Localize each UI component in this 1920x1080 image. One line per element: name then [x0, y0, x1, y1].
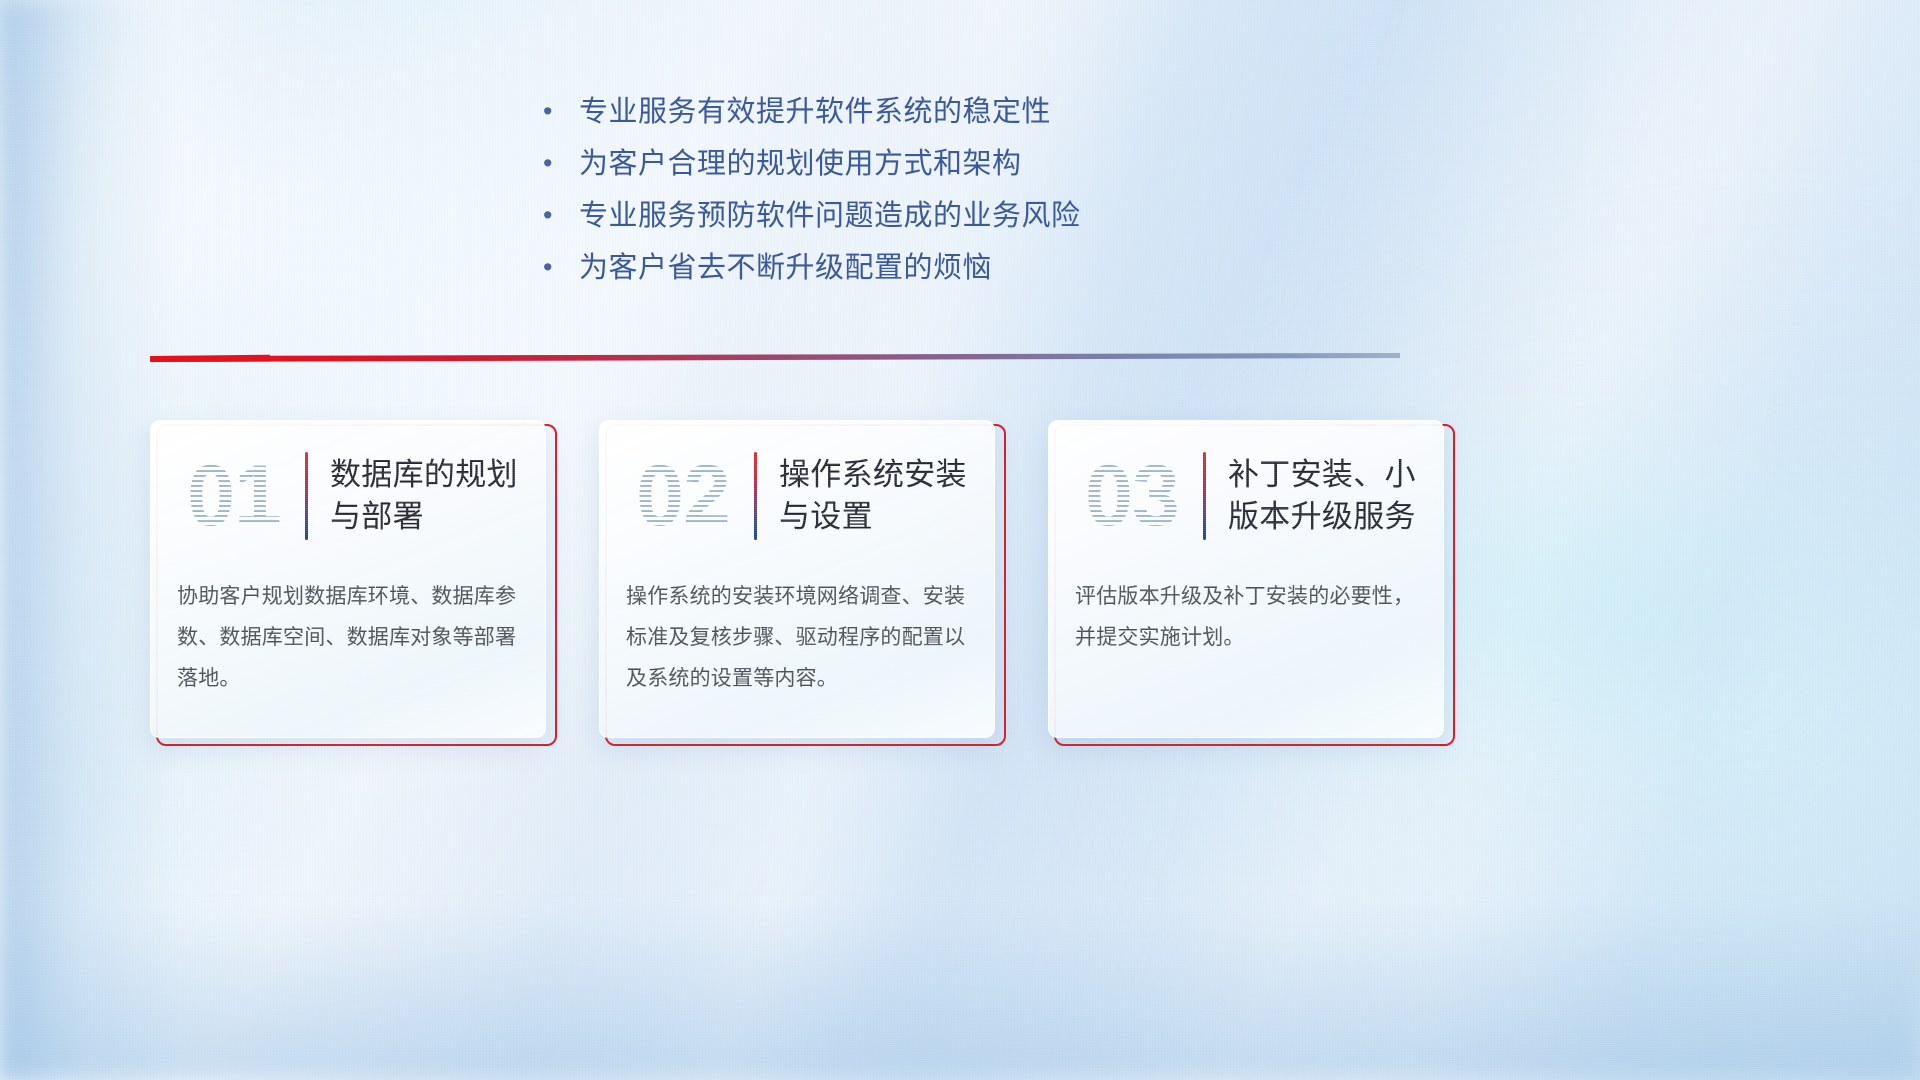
card-number: 03	[1071, 450, 1193, 542]
card-header: 03 补丁安装、小版本升级服务	[1049, 421, 1443, 571]
bullet-marker-icon: •	[543, 145, 579, 181]
card-surface: 01 数据库的规划与部署 协助客户规划数据库环境、数据库参数、数据库空间、数据库…	[150, 420, 546, 738]
card-title: 数据库的规划与部署	[330, 454, 529, 537]
bullet-text: 为客户合理的规划使用方式和架构	[579, 145, 1022, 184]
card-header: 02 操作系统安装与设置	[600, 421, 994, 571]
card-surface: 03 补丁安装、小版本升级服务 评估版本升级及补丁安装的必要性，并提交实施计划。	[1048, 420, 1444, 738]
bullet-marker-icon: •	[543, 249, 579, 285]
service-card[interactable]: 01 数据库的规划与部署 协助客户规划数据库环境、数据库参数、数据库空间、数据库…	[150, 420, 551, 746]
list-item: • 专业服务预防软件问题造成的业务风险	[543, 197, 1443, 249]
card-title-divider	[1203, 452, 1206, 540]
card-title-divider	[754, 452, 757, 540]
list-item: • 专业服务有效提升软件系统的稳定性	[543, 93, 1443, 145]
section-divider	[150, 345, 1400, 371]
list-item: • 为客户省去不断升级配置的烦恼	[543, 249, 1443, 301]
bullet-marker-icon: •	[543, 93, 579, 129]
service-card[interactable]: 03 补丁安装、小版本升级服务 评估版本升级及补丁安装的必要性，并提交实施计划。	[1048, 420, 1449, 746]
benefits-bullet-list: • 专业服务有效提升软件系统的稳定性 • 为客户合理的规划使用方式和架构 • 专…	[543, 93, 1443, 301]
bullet-marker-icon: •	[543, 197, 579, 233]
card-description: 协助客户规划数据库环境、数据库参数、数据库空间、数据库对象等部署落地。	[151, 577, 545, 700]
service-card-row: 01 数据库的规划与部署 协助客户规划数据库环境、数据库参数、数据库空间、数据库…	[150, 420, 1450, 746]
card-title: 操作系统安装与设置	[779, 454, 978, 537]
card-header: 01 数据库的规划与部署	[151, 421, 545, 571]
bullet-text: 为客户省去不断升级配置的烦恼	[579, 249, 992, 288]
bullet-text: 专业服务预防软件问题造成的业务风险	[579, 197, 1081, 236]
bullet-text: 专业服务有效提升软件系统的稳定性	[579, 93, 1051, 132]
card-description: 评估版本升级及补丁安装的必要性，并提交实施计划。	[1049, 577, 1443, 659]
divider-shape-icon	[150, 345, 1400, 371]
card-number: 01	[173, 450, 295, 542]
card-number: 02	[622, 450, 744, 542]
card-title: 补丁安装、小版本升级服务	[1228, 454, 1427, 537]
card-title-divider	[305, 452, 308, 540]
card-description: 操作系统的安装环境网络调查、安装标准及复核步骤、驱动程序的配置以及系统的设置等内…	[600, 577, 994, 700]
list-item: • 为客户合理的规划使用方式和架构	[543, 145, 1443, 197]
card-surface: 02 操作系统安装与设置 操作系统的安装环境网络调查、安装标准及复核步骤、驱动程…	[599, 420, 995, 738]
service-card[interactable]: 02 操作系统安装与设置 操作系统的安装环境网络调查、安装标准及复核步骤、驱动程…	[599, 420, 1000, 746]
